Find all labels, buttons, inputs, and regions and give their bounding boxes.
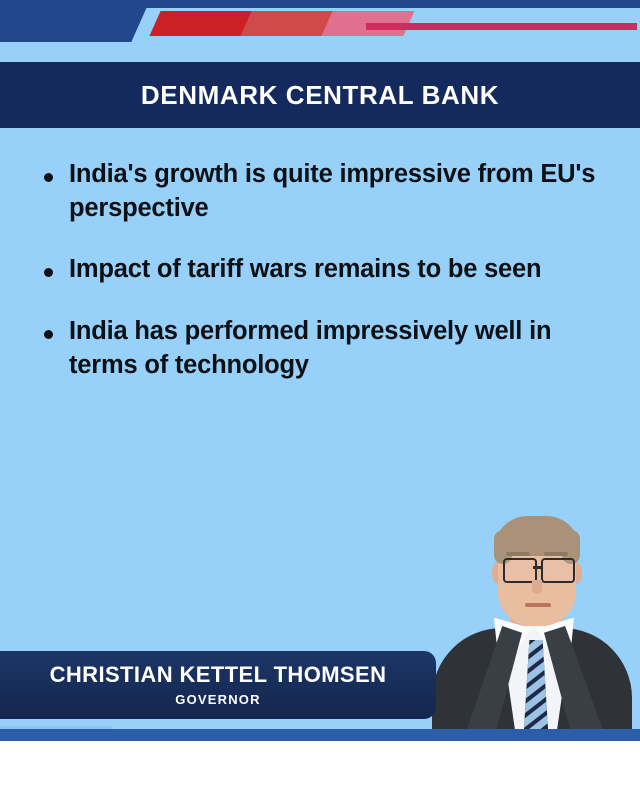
top-blue-slab bbox=[0, 0, 150, 42]
top-decor-band bbox=[0, 0, 640, 42]
bullet-dot-icon bbox=[44, 173, 53, 182]
title-bar: DENMARK CENTRAL BANK bbox=[0, 62, 640, 128]
social-card: DENMARK CENTRAL BANK India's growth is q… bbox=[0, 0, 640, 800]
bullet-text: India's growth is quite impressive from … bbox=[69, 158, 604, 225]
mouth-shape bbox=[525, 603, 551, 607]
portrait-photo bbox=[424, 500, 640, 735]
bullet-text: India has performed impressively well in… bbox=[69, 315, 604, 382]
decor-crimson-rule bbox=[366, 23, 637, 30]
page-title: DENMARK CENTRAL BANK bbox=[141, 80, 499, 111]
bullet-text: Impact of tariff wars remains to be seen bbox=[69, 253, 541, 287]
eyebrow-right bbox=[544, 552, 568, 556]
person-name: CHRISTIAN KETTEL THOMSEN bbox=[50, 663, 387, 687]
list-item: Impact of tariff wars remains to be seen bbox=[44, 253, 604, 287]
footer-bar: Follow us on @etnowlive E T N O W bbox=[0, 741, 640, 800]
accent-strip bbox=[0, 729, 640, 741]
nose-shape bbox=[532, 580, 542, 594]
glasses-lens-right bbox=[541, 558, 575, 583]
person-role: GOVERNOR bbox=[175, 692, 260, 707]
decor-bar-red bbox=[149, 11, 252, 36]
bullet-list: India's growth is quite impressive from … bbox=[44, 158, 604, 410]
bullet-dot-icon bbox=[44, 330, 53, 339]
name-plate: CHRISTIAN KETTEL THOMSEN GOVERNOR bbox=[0, 651, 436, 719]
bullet-dot-icon bbox=[44, 268, 53, 277]
decor-bar-red-mid bbox=[240, 11, 333, 36]
eyebrow-left bbox=[506, 552, 530, 556]
list-item: India's growth is quite impressive from … bbox=[44, 158, 604, 225]
list-item: India has performed impressively well in… bbox=[44, 315, 604, 382]
glasses-bridge bbox=[533, 566, 541, 569]
